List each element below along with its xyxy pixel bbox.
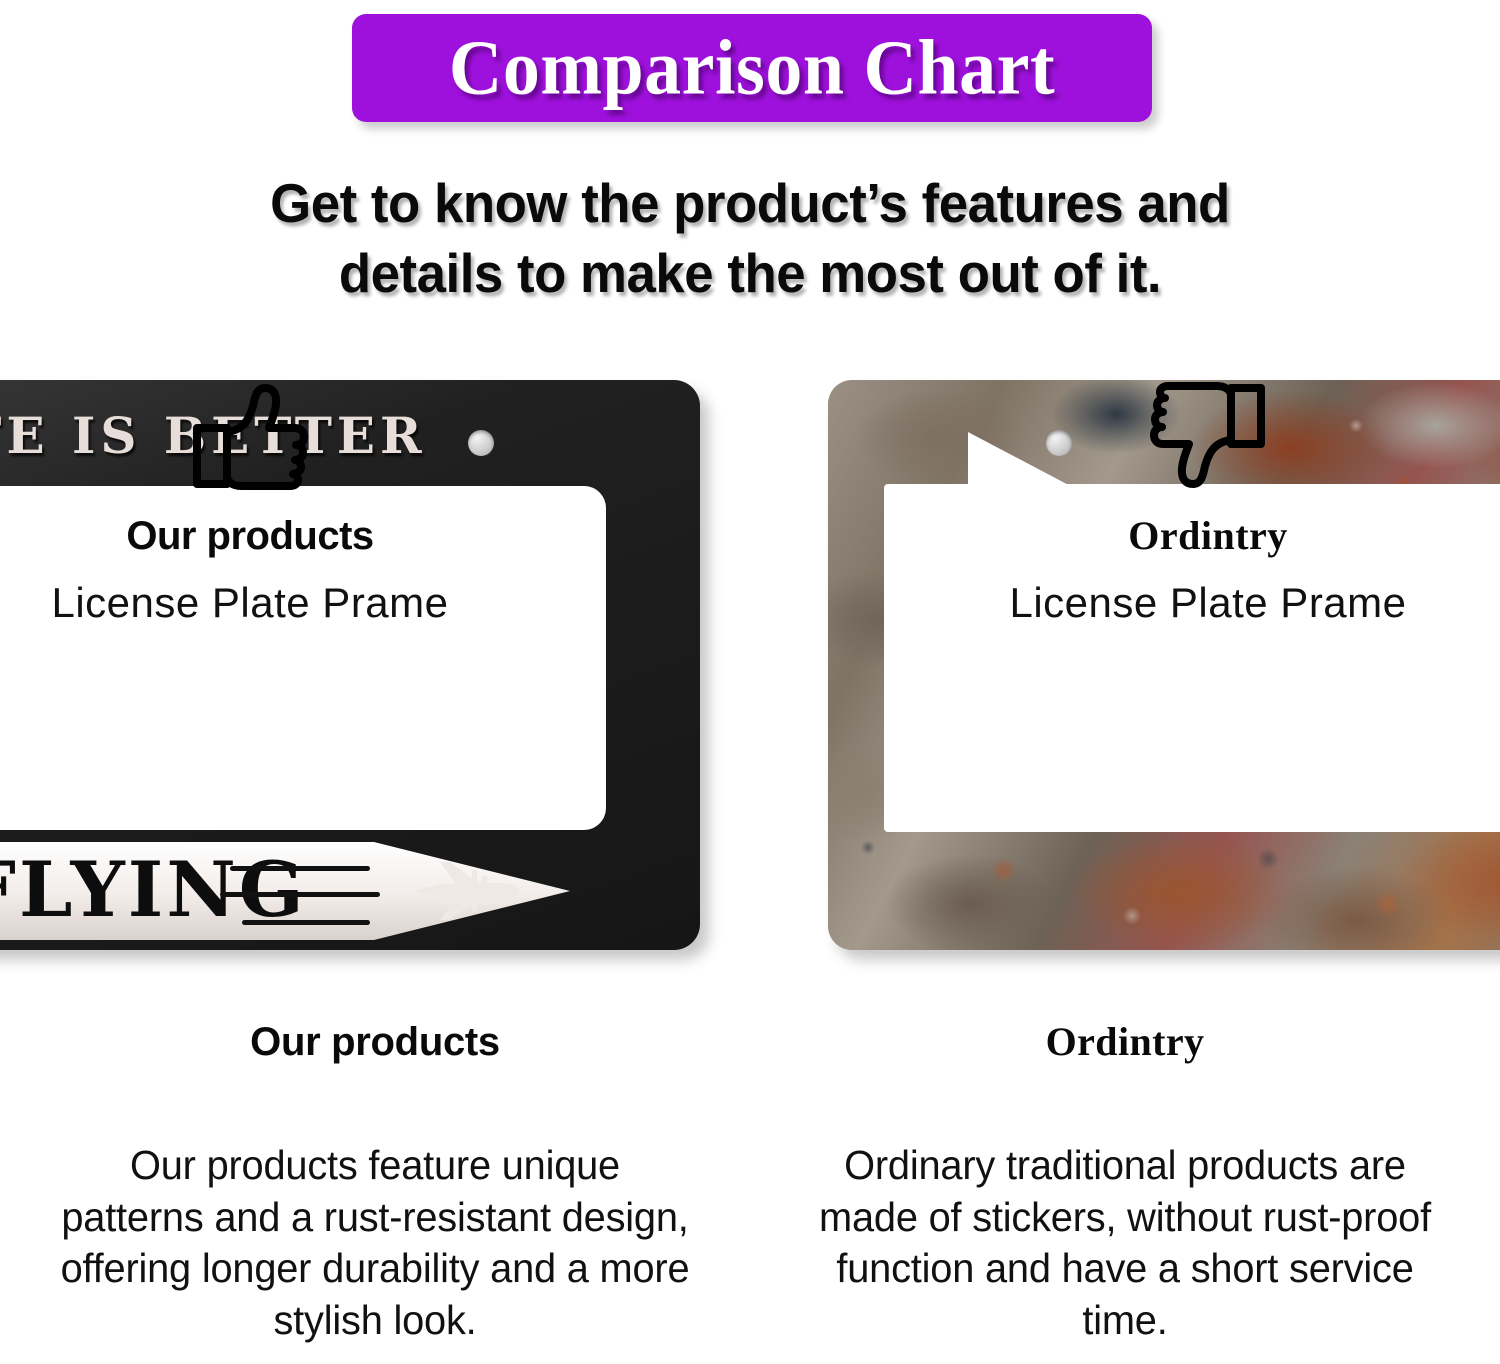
plate-top-slogan: FE IS BETTER [0, 406, 427, 465]
plate-window-opening [0, 486, 606, 830]
product-frames-row: FE IS BETTER FLYING [0, 380, 1500, 960]
our-product-description-text: Our products feature unique patterns and… [54, 1140, 696, 1347]
speed-line-icon [230, 866, 370, 871]
mounting-hole-icon [468, 430, 494, 456]
mounting-hole-icon [1046, 430, 1072, 456]
ordinary-product-description-text: Ordinary traditional products are made o… [804, 1140, 1446, 1347]
ordinary-product-description-heading: Ordintry [794, 1022, 1456, 1062]
ordinary-product-description-column: Ordintry Ordinary traditional products a… [750, 1022, 1500, 1364]
subtitle: Get to know the product’s features and d… [136, 168, 1365, 309]
our-product-license-plate-frame: FE IS BETTER FLYING [0, 380, 700, 950]
plate-bottom-slogan: FLYING [0, 852, 307, 928]
subtitle-line-2: details to make the most out of it. [136, 238, 1365, 308]
descriptions-row: Our products Our products feature unique… [0, 1022, 1500, 1364]
ordinary-product-license-plate-frame [828, 380, 1500, 950]
our-product-description-column: Our products Our products feature unique… [0, 1022, 750, 1364]
airplane-icon [410, 858, 522, 924]
our-product-description-heading: Our products [44, 1022, 706, 1062]
plate-window-opening [884, 484, 1500, 832]
plate-bottom-band: FLYING [0, 832, 700, 950]
subtitle-line-1: Get to know the product’s features and [136, 168, 1365, 238]
speed-line-icon [220, 892, 380, 897]
page-title: Comparison Chart [449, 29, 1055, 107]
title-banner: Comparison Chart [352, 14, 1152, 122]
comparison-chart-page: Comparison Chart Get to know the product… [0, 0, 1500, 1364]
speed-line-icon [242, 920, 370, 925]
